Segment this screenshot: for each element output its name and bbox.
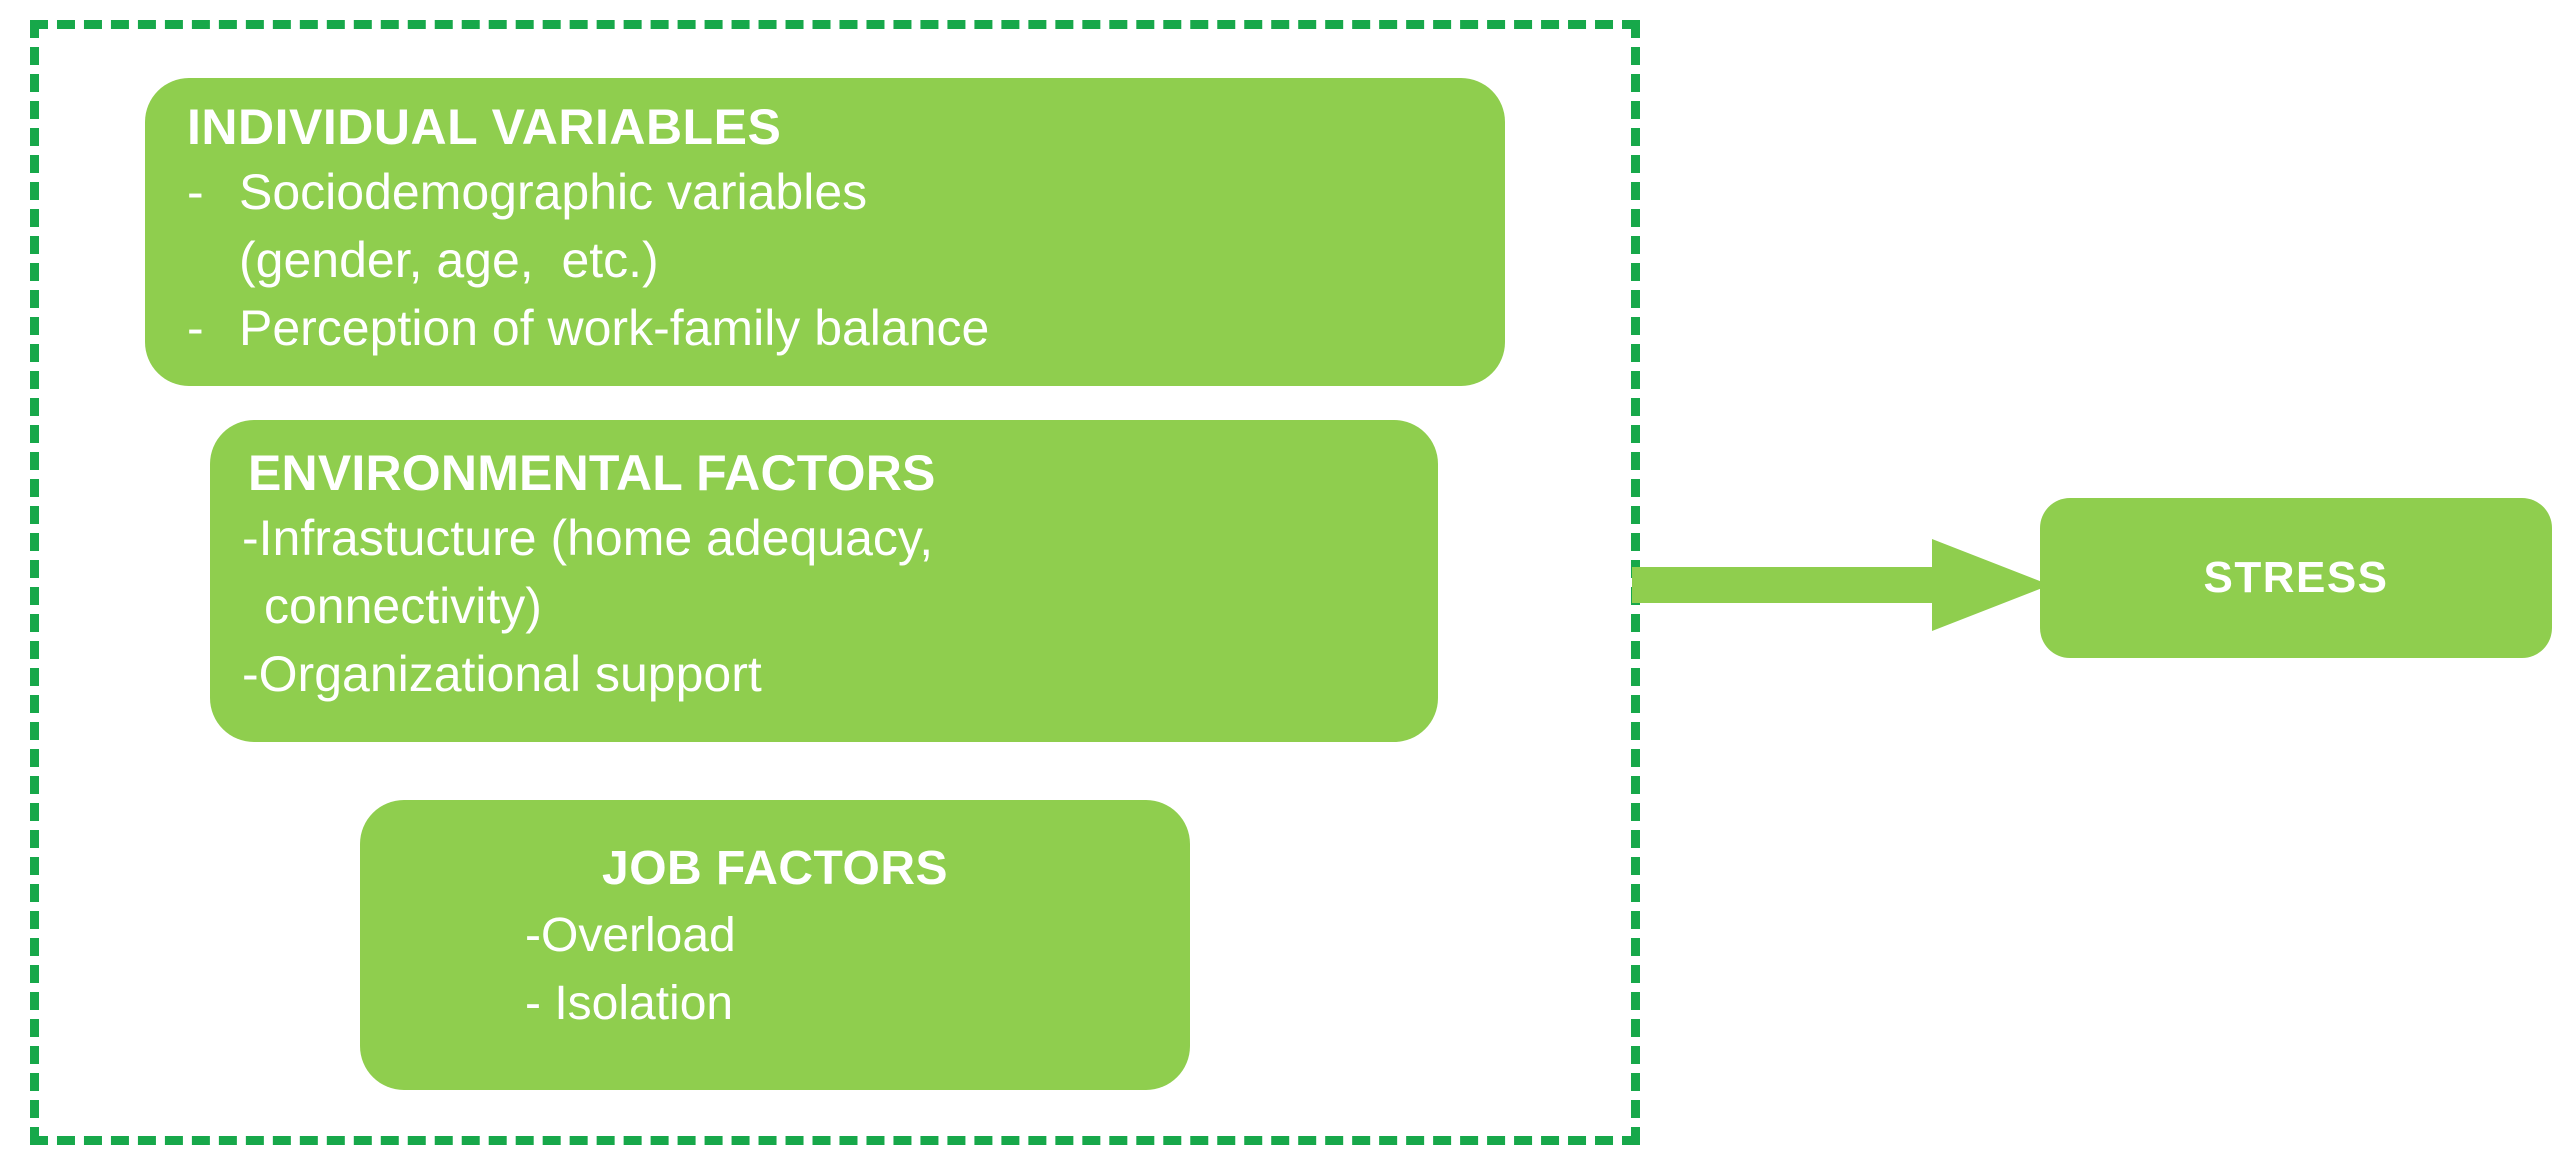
box-job-factors[interactable]: JOB FACTORS -Overload - Isolation: [360, 800, 1190, 1090]
box-environmental-factors-line-3-text: Organizational support: [259, 646, 762, 702]
bullet-dash-icon: -: [187, 294, 239, 362]
bullet-dash-icon: -: [187, 158, 239, 226]
bullet-dash-icon: -: [242, 510, 259, 566]
box-stress[interactable]: STRESS: [2040, 498, 2552, 658]
box-environmental-factors-title: ENVIRONMENTAL FACTORS: [210, 442, 1438, 504]
box-job-factors-line-2-text: Isolation: [541, 977, 733, 1030]
arrow-right-icon: [1632, 535, 2052, 635]
box-environmental-factors-line-2: connectivity): [210, 572, 1438, 640]
box-environmental-factors[interactable]: ENVIRONMENTAL FACTORS -Infrastucture (ho…: [210, 420, 1438, 742]
box-individual-variables[interactable]: INDIVIDUAL VARIABLES -Sociodemographic v…: [145, 78, 1505, 386]
box-environmental-factors-line-1-text: Infrastucture (home adequacy,: [259, 510, 933, 566]
bullet-dash-icon: -: [525, 909, 541, 962]
box-individual-variables-line-1: -Sociodemographic variables: [145, 158, 1505, 226]
box-individual-variables-line-3: -Perception of work-family balance: [145, 294, 1505, 362]
box-individual-variables-line-2-text: (gender, age, etc.): [239, 232, 659, 288]
box-job-factors-title: JOB FACTORS: [360, 836, 1190, 902]
box-job-factors-line-2: - Isolation: [360, 970, 1190, 1038]
box-environmental-factors-line-2-text: connectivity): [264, 578, 542, 634]
box-individual-variables-line-1-text: Sociodemographic variables: [239, 164, 867, 220]
arrow-shape: [1632, 539, 2050, 631]
box-job-factors-line-1: -Overload: [360, 902, 1190, 970]
box-individual-variables-line-3-text: Perception of work-family balance: [239, 300, 989, 356]
box-stress-title: STRESS: [2203, 553, 2388, 603]
box-job-factors-line-1-text: Overload: [541, 909, 736, 962]
box-individual-variables-line-2: (gender, age, etc.): [145, 226, 1505, 294]
diagram-canvas: INDIVIDUAL VARIABLES -Sociodemographic v…: [0, 0, 2572, 1174]
box-environmental-factors-line-3: -Organizational support: [210, 640, 1438, 708]
box-individual-variables-title: INDIVIDUAL VARIABLES: [145, 96, 1505, 158]
bullet-dash-icon: -: [242, 646, 259, 702]
box-environmental-factors-line-1: -Infrastucture (home adequacy,: [210, 504, 1438, 572]
bullet-dash-icon: -: [525, 977, 541, 1030]
